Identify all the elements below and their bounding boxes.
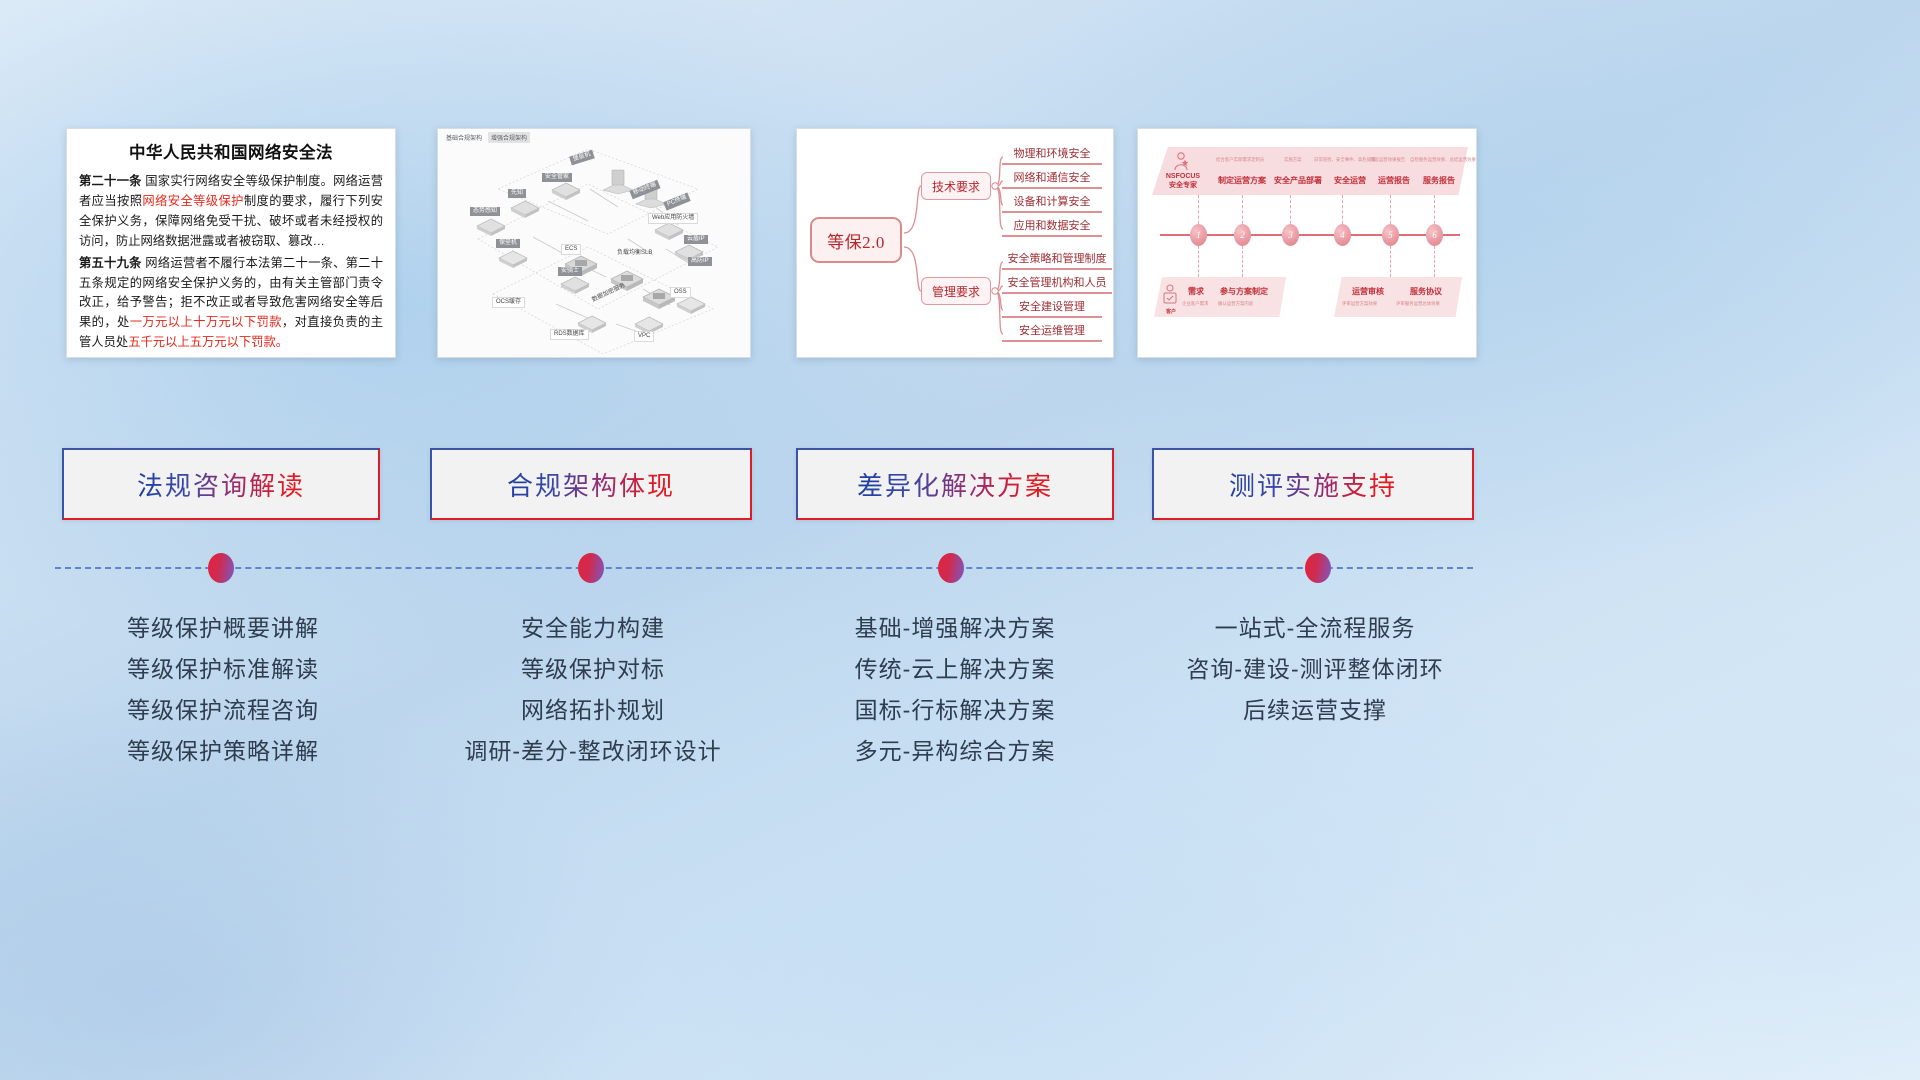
law-article-59: 第五十九条 网络运营者不履行本法第二十一条、第二十五条规定的网络安全保护义务的，… — [79, 254, 383, 354]
step-sub: 日常巡检、安全事件、高危处置 — [1314, 157, 1375, 163]
arch-node-label: Web应用防火墙 — [648, 213, 698, 224]
arch-node-label: 负载均衡SLB — [614, 249, 655, 258]
law-title: 中华人民共和国网络安全法 — [79, 139, 383, 163]
feature-item: 基础-增强解决方案 — [790, 608, 1120, 649]
leader-line — [1434, 246, 1435, 277]
feature-item: 等级保护标准解读 — [58, 649, 388, 690]
arch-node-label: OCS缓存 — [492, 297, 525, 308]
card-law-screenshot[interactable]: 中华人民共和国网络安全法 第二十一条 国家实行网络安全等级保护制度。网络运营者应… — [66, 128, 396, 358]
client-avatar-icon — [1162, 284, 1178, 311]
brand-name: NSFOCUS — [1166, 173, 1200, 180]
arch-node-label: 态势感知 — [470, 207, 500, 216]
feature-column-assessment: 一站式-全流程服务 咨询-建设-测评整体闭环 后续运营支撑 — [1150, 608, 1480, 731]
step-sub: 自检服务运营效果、总结运营效果 — [1410, 157, 1476, 163]
feature-column-solution: 基础-增强解决方案 传统-云上解决方案 国标-行标解决方案 多元-异构综合方案 — [790, 608, 1120, 772]
mindmap-leaf: 设备和计算安全 — [1002, 193, 1102, 213]
bottom-band-right — [1334, 277, 1462, 317]
timeline-marker[interactable]: 2 — [1234, 224, 1251, 246]
page-root: 中华人民共和国网络安全法 第二十一条 国家实行网络安全等级保护制度。网络运营者应… — [0, 0, 1920, 1080]
feature-item: 网络拓扑规划 — [428, 690, 758, 731]
architecture-diagram: 基础合规架构 增强合规架构 — [438, 129, 750, 357]
client-label: 客户 — [1158, 309, 1184, 315]
arch-node-label: 先知 — [508, 189, 526, 198]
arch-node-label: 安全管家 — [542, 173, 572, 182]
mindmap-diagram: 等保2.0 技术要求 管理要求 物理和环境安全 网络和通信安全 设备和计算安全 … — [797, 129, 1113, 357]
card-architecture-screenshot[interactable]: 基础合规架构 增强合规架构 — [437, 128, 751, 358]
feature-item: 国标-行标解决方案 — [790, 690, 1120, 731]
step-sub: 评审运营方案效果 — [1342, 301, 1377, 307]
article-59-label: 第五十九条 — [79, 256, 142, 270]
mindmap-leaf: 安全建设管理 — [1002, 298, 1102, 318]
timeline-node-3[interactable] — [938, 553, 964, 583]
timeline-marker[interactable]: 1 — [1190, 224, 1207, 246]
mindmap-leaf: 网络和通信安全 — [1002, 169, 1102, 189]
article-59-highlight-1: 一万元以上十万元以下罚款 — [130, 315, 282, 329]
nsfocus-timeline-diagram: NSFOCUS 安全专家 结合客户实际需求定制员 制定运营方案 实施方案 安全产… — [1138, 129, 1476, 357]
feature-item: 等级保护对标 — [428, 649, 758, 690]
step-title: 运营审核 — [1352, 286, 1384, 297]
step-sub: 企业客户需求 — [1182, 301, 1208, 307]
feature-item: 调研-差分-整改闭环设计 — [428, 731, 758, 772]
feature-column-architecture: 安全能力构建 等级保护对标 网络拓扑规划 调研-差分-整改闭环设计 — [428, 608, 758, 772]
arch-node-label: 保垒机 — [496, 239, 520, 248]
step-title: 安全运营 — [1334, 175, 1366, 186]
feature-column-regulation: 等级保护概要讲解 等级保护标准解读 等级保护流程咨询 等级保护策略详解 — [58, 608, 388, 772]
timeline-node-4[interactable] — [1305, 553, 1331, 583]
article-21-highlight: 网络安全等级保护 — [142, 194, 243, 208]
arch-node-label: ECS — [561, 244, 581, 255]
pillar-label: 法规咨询解读 — [137, 466, 305, 503]
pillar-label: 合规架构体现 — [507, 466, 675, 503]
brand-subtitle: 安全专家 — [1169, 182, 1197, 189]
pillar-box-solution[interactable]: 差异化解决方案 — [796, 448, 1114, 520]
timeline-marker[interactable]: 6 — [1426, 224, 1443, 246]
arch-node-label: 安骑士 — [558, 267, 582, 276]
step-title: 需求 — [1188, 286, 1204, 297]
feature-item: 等级保护策略详解 — [58, 731, 388, 772]
feature-item: 后续运营支撑 — [1150, 690, 1480, 731]
timeline-dashed-line — [55, 567, 1473, 569]
mindmap-leaf: 安全运维管理 — [1002, 322, 1102, 342]
feature-item: 等级保护流程咨询 — [58, 690, 388, 731]
feature-item: 传统-云上解决方案 — [790, 649, 1120, 690]
mindmap-leaf: 安全管理机构和人员 — [1002, 274, 1112, 294]
timeline-node-1[interactable] — [208, 553, 234, 583]
feature-item: 等级保护概要讲解 — [58, 608, 388, 649]
nsfocus-brand: NSFOCUS 安全专家 — [1160, 173, 1206, 191]
feature-item: 咨询-建设-测评整体闭环 — [1150, 649, 1480, 690]
step-title: 运营报告 — [1378, 175, 1410, 186]
mindmap-branch-management: 管理要求 — [921, 277, 991, 305]
step-sub: 确认运营方案内容 — [1218, 301, 1253, 307]
mindmap-leaf: 安全策略和管理制度 — [1002, 250, 1112, 270]
law-document: 中华人民共和国网络安全法 第二十一条 国家实行网络安全等级保护制度。网络运营者应… — [67, 129, 395, 358]
law-article-21: 第二十一条 国家实行网络安全等级保护制度。网络运营者应当按照网络安全等级保护制度… — [79, 172, 383, 252]
feature-item: 一站式-全流程服务 — [1150, 608, 1480, 649]
leader-line — [1390, 246, 1391, 277]
timeline-marker[interactable]: 3 — [1282, 224, 1299, 246]
pillar-box-regulation[interactable]: 法规咨询解读 — [62, 448, 380, 520]
step-title: 参与方案制定 — [1220, 286, 1268, 297]
card-mindmap-screenshot[interactable]: 等保2.0 技术要求 管理要求 物理和环境安全 网络和通信安全 设备和计算安全 … — [796, 128, 1114, 358]
step-sub: 实施方案 — [1284, 157, 1302, 163]
timeline-node-2[interactable] — [578, 553, 604, 583]
arch-node-label: OSS — [670, 287, 691, 298]
mindmap-leaf: 应用和数据安全 — [1002, 217, 1102, 237]
article-21-label: 第二十一条 — [79, 174, 142, 188]
step-sub: 评审服务运营总体效果 — [1396, 301, 1440, 307]
step-sub: 阶段运营效果报告 — [1370, 157, 1405, 163]
article-59-highlight-2: 五千元以上五万元以下罚款。 — [128, 335, 288, 349]
step-title: 服务协议 — [1410, 286, 1442, 297]
pillar-label: 差异化解决方案 — [857, 466, 1053, 503]
arch-node-label: 云盾IP — [684, 235, 708, 244]
leader-line — [1242, 246, 1243, 277]
step-title: 安全产品部署 — [1274, 175, 1322, 186]
mindmap-leaf: 物理和环境安全 — [1002, 145, 1102, 165]
mindmap-branch-technical: 技术要求 — [921, 172, 991, 200]
pillar-box-architecture[interactable]: 合规架构体现 — [430, 448, 752, 520]
timeline-marker[interactable]: 5 — [1382, 224, 1399, 246]
step-title: 服务报告 — [1423, 175, 1455, 186]
timeline-marker[interactable]: 4 — [1334, 224, 1351, 246]
leader-line — [1198, 246, 1199, 277]
arch-node-label: VPC — [634, 331, 654, 342]
feature-item: 安全能力构建 — [428, 608, 758, 649]
feature-item: 多元-异构综合方案 — [790, 731, 1120, 772]
pillar-box-assessment[interactable]: 测评实施支持 — [1152, 448, 1474, 520]
step-sub: 结合客户实际需求定制员 — [1216, 157, 1264, 163]
pillar-label: 测评实施支持 — [1229, 466, 1397, 503]
arch-node-label: RDS数据库 — [550, 329, 589, 340]
step-title: 制定运营方案 — [1218, 175, 1266, 186]
arch-node-label: 高防IP — [688, 257, 712, 266]
card-nsfocus-screenshot[interactable]: NSFOCUS 安全专家 结合客户实际需求定制员 制定运营方案 实施方案 安全产… — [1137, 128, 1477, 358]
mindmap-root: 等保2.0 — [810, 217, 902, 263]
